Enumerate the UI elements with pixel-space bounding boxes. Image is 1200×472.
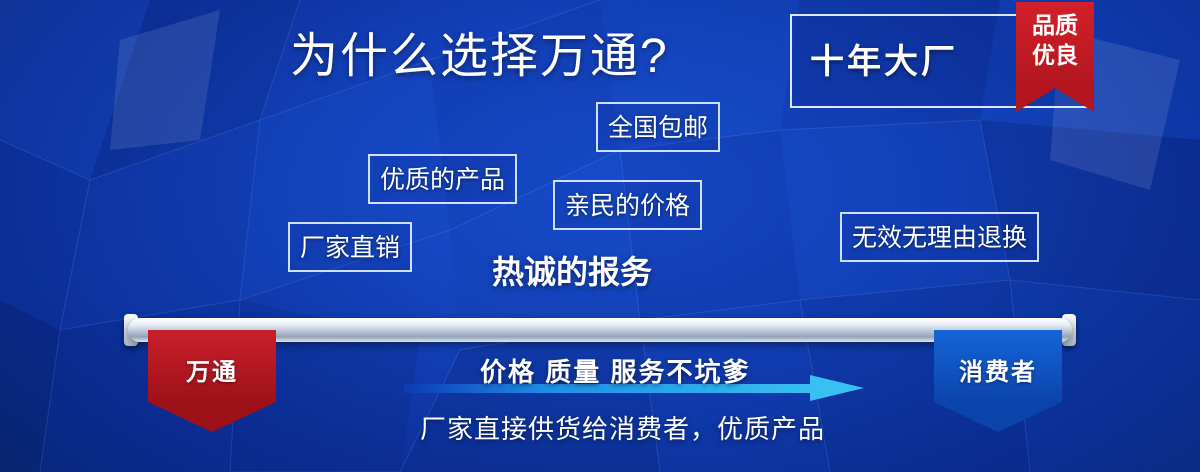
feature-tag-friendly-price: 亲民的价格: [553, 180, 702, 230]
feature-tag-factory-direct: 厂家直销: [288, 222, 412, 272]
flag-consumer-label: 消费者: [934, 352, 1062, 387]
ribbon-tail: [1016, 88, 1094, 112]
quality-ribbon-icon: 品质 优良: [1016, 2, 1094, 114]
ribbon-line-2: 优良: [1016, 40, 1094, 70]
factory-label: 十年大厂: [810, 34, 958, 83]
feature-tag-quality-product: 优质的产品: [368, 154, 517, 204]
ten-year-factory-badge: 十年大厂 品质 优良: [790, 14, 1094, 108]
arrow-head: [810, 375, 864, 401]
flag-manufacturer-notch: [148, 402, 276, 432]
service-text: 热诚的报务: [492, 247, 652, 293]
chain-subslogan: 厂家直接供货给消费者，优质产品: [420, 409, 825, 446]
ribbon-line-1: 品质: [1016, 10, 1094, 40]
flag-manufacturer: 万通: [148, 330, 276, 438]
feature-tag-nationwide-shipping: 全国包邮: [596, 102, 720, 152]
chain-slogan: 价格 质量 服务不坑爹: [480, 352, 750, 389]
flag-consumer-notch: [934, 402, 1062, 432]
feature-tag-free-returns: 无效无理由退换: [840, 212, 1039, 262]
flag-manufacturer-label: 万通: [148, 352, 276, 387]
promo-banner: 为什么选择万通? 全国包邮 优质的产品 亲民的价格 无效无理由退换 厂家直销 热…: [0, 0, 1200, 472]
ribbon-text: 品质 优良: [1016, 10, 1094, 70]
page-title: 为什么选择万通?: [290, 16, 669, 86]
flag-consumer: 消费者: [934, 330, 1062, 438]
